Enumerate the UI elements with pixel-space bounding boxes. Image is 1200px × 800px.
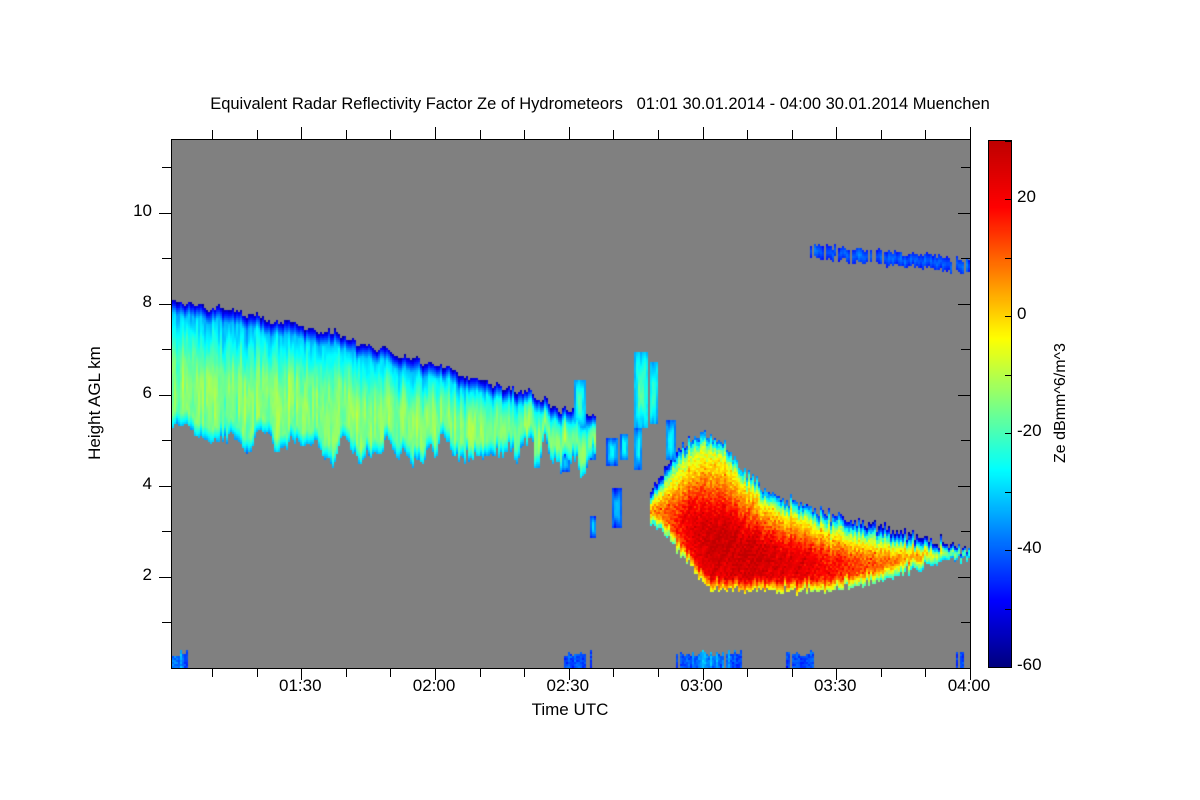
colorbar-tick-label: -60	[1017, 655, 1042, 675]
x-tick-top	[257, 130, 258, 139]
y-tick-label: 10	[133, 201, 152, 221]
x-tick-top	[881, 130, 882, 139]
y-tick	[159, 395, 171, 396]
colorbar-tick	[1005, 199, 1011, 200]
plot-area[interactable]	[171, 139, 971, 669]
y-tick-right	[961, 349, 970, 350]
figure-canvas: Equivalent Radar Reflectivity Factor Ze …	[0, 0, 1200, 800]
y-tick	[162, 440, 171, 441]
x-tick-top	[346, 130, 347, 139]
x-tick-top	[390, 130, 391, 139]
x-tick-top	[301, 127, 302, 139]
colorbar-tick-label: -20	[1017, 421, 1042, 441]
x-tick-top	[524, 130, 525, 139]
colorbar-tick-label: 0	[1017, 304, 1026, 324]
radar-reflectivity-heatmap[interactable]	[172, 140, 970, 668]
x-tick-top	[613, 130, 614, 139]
colorbar-tick	[1005, 258, 1011, 259]
x-tick-top	[435, 127, 436, 139]
x-tick-top	[658, 130, 659, 139]
y-tick	[159, 304, 171, 305]
x-tick	[747, 668, 748, 677]
y-tick-right	[961, 622, 970, 623]
y-tick-right	[961, 440, 970, 441]
colorbar-tick	[1005, 492, 1011, 493]
y-tick-right	[958, 395, 970, 396]
y-tick	[159, 213, 171, 214]
colorbar-tick	[1005, 550, 1011, 551]
colorbar-tick-label: 20	[1017, 187, 1036, 207]
y-tick	[159, 486, 171, 487]
x-tick-label: 01:30	[255, 676, 345, 696]
x-tick-label: 03:00	[657, 676, 747, 696]
colorbar-tick	[1005, 375, 1011, 376]
x-axis-title: Time UTC	[171, 700, 969, 720]
x-tick-label: 02:30	[523, 676, 613, 696]
x-tick	[480, 668, 481, 677]
y-tick-label: 6	[143, 383, 152, 403]
y-tick-label: 4	[143, 474, 152, 494]
y-tick	[162, 167, 171, 168]
y-tick-right	[961, 167, 970, 168]
x-tick-top	[792, 130, 793, 139]
page-title: Equivalent Radar Reflectivity Factor Ze …	[0, 95, 1200, 114]
y-tick-right	[961, 258, 970, 259]
colorbar-tick-label: -40	[1017, 538, 1042, 558]
x-tick-top	[970, 127, 971, 139]
y-tick	[162, 622, 171, 623]
y-tick	[159, 577, 171, 578]
colorbar-gradient	[989, 141, 1011, 667]
y-tick-label: 2	[143, 565, 152, 585]
x-tick-top	[569, 127, 570, 139]
colorbar-tick	[1005, 667, 1011, 668]
y-tick	[162, 531, 171, 532]
y-tick-right	[961, 531, 970, 532]
x-tick-label: 04:00	[924, 676, 1014, 696]
colorbar-tick	[1005, 433, 1011, 434]
x-tick-top	[480, 130, 481, 139]
x-tick-top	[703, 127, 704, 139]
y-axis-title: Height AGL km	[85, 346, 105, 460]
x-tick-label: 02:00	[389, 676, 479, 696]
colorbar-title: Ze dBmm^6/m^3	[1052, 343, 1070, 463]
x-tick-top	[925, 130, 926, 139]
y-tick-right	[958, 304, 970, 305]
colorbar[interactable]	[988, 140, 1012, 668]
x-tick	[212, 668, 213, 677]
colorbar-tick	[1005, 609, 1011, 610]
y-tick-label: 8	[143, 292, 152, 312]
y-tick	[162, 349, 171, 350]
colorbar-tick	[1005, 316, 1011, 317]
y-tick	[162, 258, 171, 259]
x-tick-top	[747, 130, 748, 139]
x-tick-label: 03:30	[790, 676, 880, 696]
x-tick-top	[836, 127, 837, 139]
y-tick-right	[958, 486, 970, 487]
colorbar-tick	[1005, 141, 1011, 142]
x-tick-top	[212, 130, 213, 139]
y-tick-right	[958, 577, 970, 578]
y-tick-right	[958, 213, 970, 214]
x-tick	[346, 668, 347, 677]
x-tick	[881, 668, 882, 677]
